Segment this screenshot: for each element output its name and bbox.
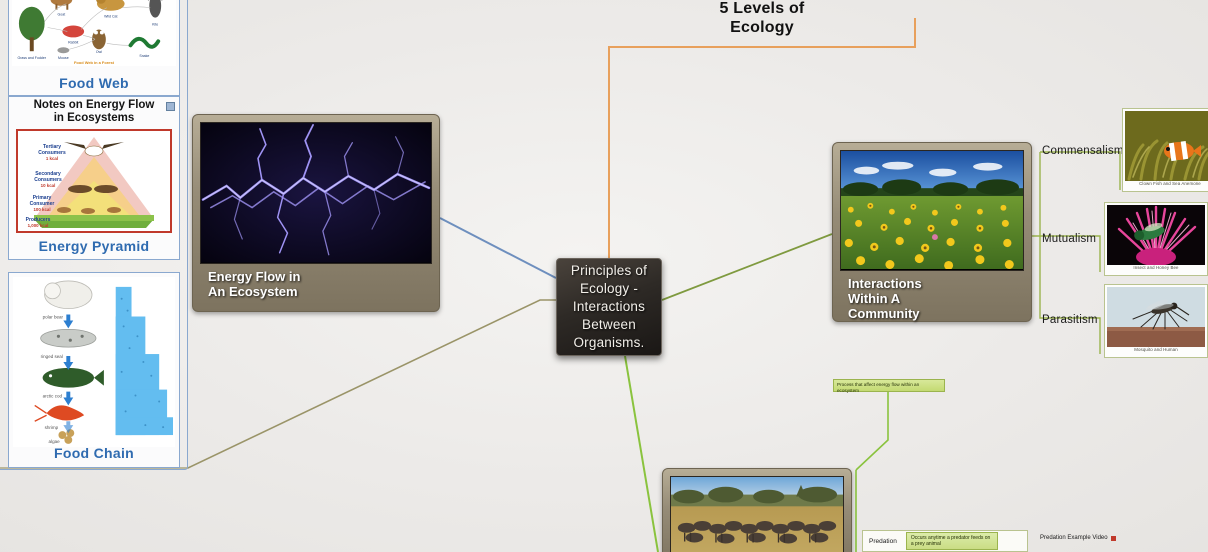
sticky-note-energy-process[interactable]: Process that affect energy flow within a… [833,379,945,392]
node-energy-flow-in-an-ecosystem[interactable]: Energy Flow in An Ecosystem [192,114,440,312]
predation-video-link[interactable]: Predation Example Video [1040,535,1116,541]
svg-text:Goat: Goat [58,13,66,17]
node-title-5-levels: 5 Levels of Ecology [612,0,912,37]
svg-text:polar bear: polar bear [43,314,64,319]
caption-energy-pyramid: Energy Pyramid [9,238,179,254]
food-chain-image: polar bear ringed seal arctic cod shrimp [13,277,175,447]
svg-text:10 kcal: 10 kcal [41,183,56,188]
caption-food-web: Food Web [9,75,179,91]
branch-label-parasitism[interactable]: Parasitism [1042,314,1098,326]
node-interactions-within-a-community[interactable]: Interactions Within A Community [832,142,1032,322]
node-5-levels-of-ecology[interactable]: Individual 5 Levels of Ecology [612,0,912,37]
predation-label: Predation [863,538,903,545]
meadow-photo [840,150,1024,271]
node-predation-image[interactable] [662,468,852,552]
svg-text:Snake: Snake [139,54,149,58]
svg-text:Mouse: Mouse [58,56,69,60]
predation-note[interactable]: Occurs anytime a predator feeds on a pre… [906,532,998,550]
note-title-energy-flow: Notes on Energy Flow in Ecosystems [9,97,179,125]
mosquito-on-skin-photo [1107,287,1205,347]
svg-text:1 kcal: 1 kcal [46,156,58,161]
thumb-caption-parasitism: Mosquito and Human [1107,347,1205,353]
svg-text:Kite: Kite [152,23,158,27]
predation-video-label: Predation Example Video [1040,535,1108,541]
branch-label-mutualism[interactable]: Mutualism [1042,233,1096,245]
svg-text:Food Web in a Forest: Food Web in a Forest [74,60,115,65]
svg-text:Wild Cat: Wild Cat [104,15,117,19]
wildebeest-lion-photo [670,476,844,552]
bee-on-pink-flower-photo [1107,205,1205,265]
svg-text:ringed seal: ringed seal [41,354,63,359]
caption-community: Interactions Within A Community [840,271,1024,323]
svg-text:1,000 kcal: 1,000 kcal [28,223,49,228]
thumb-card-commensalism[interactable]: Clown Fish and Sea Anemone [1122,108,1208,192]
note-attachment-icon[interactable] [166,102,175,111]
predation-detail-strip[interactable]: Predation Occurs anytime a predator feed… [862,530,1028,552]
food-web-image: Grass and Fodder Goat Rabbit Mouse Wild … [12,0,176,66]
central-topic-node[interactable]: Principles of Ecology - Interactions Bet… [556,258,662,356]
svg-text:Owl: Owl [96,50,102,54]
svg-text:100 kcal: 100 kcal [33,207,50,212]
svg-text:Rabbit: Rabbit [68,40,78,44]
thumb-caption-mutualism: Insect and Honey Bee [1107,265,1205,271]
energy-pyramid-image: Tertiary Consumers 1 kcal Secondary Cons… [16,129,172,233]
panel-energy-pyramid[interactable]: Notes on Energy Flow in Ecosystems [8,96,180,260]
caption-food-chain: Food Chain [9,445,179,461]
caption-energy-flow: Energy Flow in An Ecosystem [200,264,432,301]
panel-food-chain[interactable]: polar bear ringed seal arctic cod shrimp [8,272,180,468]
thumb-card-mutualism[interactable]: Insect and Honey Bee [1104,202,1208,276]
branch-label-commensalism[interactable]: Commensalism [1042,145,1124,157]
svg-text:shrimp: shrimp [45,425,59,430]
thumb-caption-commensalism: Clown Fish and Sea Anemone [1125,181,1208,187]
video-marker-icon [1111,536,1116,541]
svg-text:Grass and Fodder: Grass and Fodder [17,56,46,60]
svg-text:arctic cod: arctic cod [43,394,63,399]
lightning-photo [200,122,432,264]
panel-food-web[interactable]: Grass and Fodder Goat Rabbit Mouse Wild … [8,0,180,96]
svg-text:algae: algae [49,439,61,444]
clownfish-anemone-photo [1125,111,1208,181]
central-topic-text: Principles of Ecology - Interactions Bet… [571,262,647,352]
thumb-card-parasitism[interactable]: Mosquito and Human [1104,284,1208,358]
